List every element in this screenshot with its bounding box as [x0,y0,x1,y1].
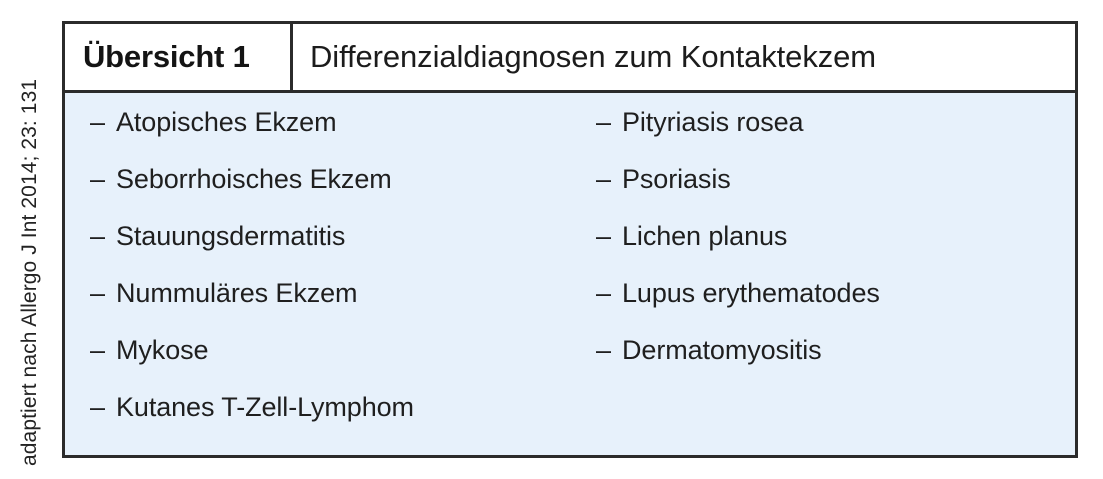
dash-bullet-icon: – [90,107,116,137]
dash-bullet-icon: – [596,164,622,194]
dash-bullet-icon: – [90,164,116,194]
list-item-label: Mykose [116,335,208,365]
list-item: – Lupus erythematodes [596,278,1075,335]
list-item-label: Stauungsdermatitis [116,221,345,251]
overview-title: Differenzialdiagnosen zum Kontaktekzem [293,24,1075,90]
overview-box-header: Übersicht 1 Differenzialdiagnosen zum Ko… [65,24,1075,93]
dash-bullet-icon: – [90,335,116,365]
dash-bullet-icon: – [90,392,116,422]
dash-bullet-icon: – [90,278,116,308]
list-item: – Kutanes T-Zell-Lymphom [90,392,568,449]
list-item-label: Nummuläres Ekzem [116,278,357,308]
list-item-label: Psoriasis [622,164,731,194]
list-item: – Lichen planus [596,221,1075,278]
list-item-label: Lupus erythematodes [622,278,880,308]
list-item-label: Dermatomyositis [622,335,822,365]
list-item-label: Kutanes T-Zell-Lymphom [116,392,414,422]
overview-box-body: – Atopisches Ekzem – Seborrhoisches Ekze… [65,93,1075,458]
overview-box: Übersicht 1 Differenzialdiagnosen zum Ko… [62,21,1078,458]
list-item: – Mykose [90,335,568,392]
figure-container: adaptiert nach Allergo J Int 2014; 23: 1… [0,0,1103,479]
list-item: – Atopisches Ekzem [90,107,568,164]
list-item: – Psoriasis [596,164,1075,221]
list-item: – Pityriasis rosea [596,107,1075,164]
list-item: – Seborrhoisches Ekzem [90,164,568,221]
list-item-label: Lichen planus [622,221,787,251]
dash-bullet-icon: – [596,278,622,308]
dash-bullet-icon: – [596,107,622,137]
list-item-label: Seborrhoisches Ekzem [116,164,392,194]
diagnosis-column-right: – Pityriasis rosea – Psoriasis – Lichen … [568,107,1075,392]
diagnosis-columns: – Atopisches Ekzem – Seborrhoisches Ekze… [65,107,1075,449]
list-item-label: Atopisches Ekzem [116,107,337,137]
dash-bullet-icon: – [596,335,622,365]
overview-number-label: Übersicht 1 [65,24,293,90]
dash-bullet-icon: – [596,221,622,251]
list-item: – Dermatomyositis [596,335,1075,392]
list-item: – Stauungsdermatitis [90,221,568,278]
diagnosis-column-left: – Atopisches Ekzem – Seborrhoisches Ekze… [65,107,568,449]
dash-bullet-icon: – [90,221,116,251]
list-item: – Nummuläres Ekzem [90,278,568,335]
source-credit-text: adaptiert nach Allergo J Int 2014; 23: 1… [18,14,42,466]
credit-rail: adaptiert nach Allergo J Int 2014; 23: 1… [0,0,58,479]
list-item-label: Pityriasis rosea [622,107,803,137]
